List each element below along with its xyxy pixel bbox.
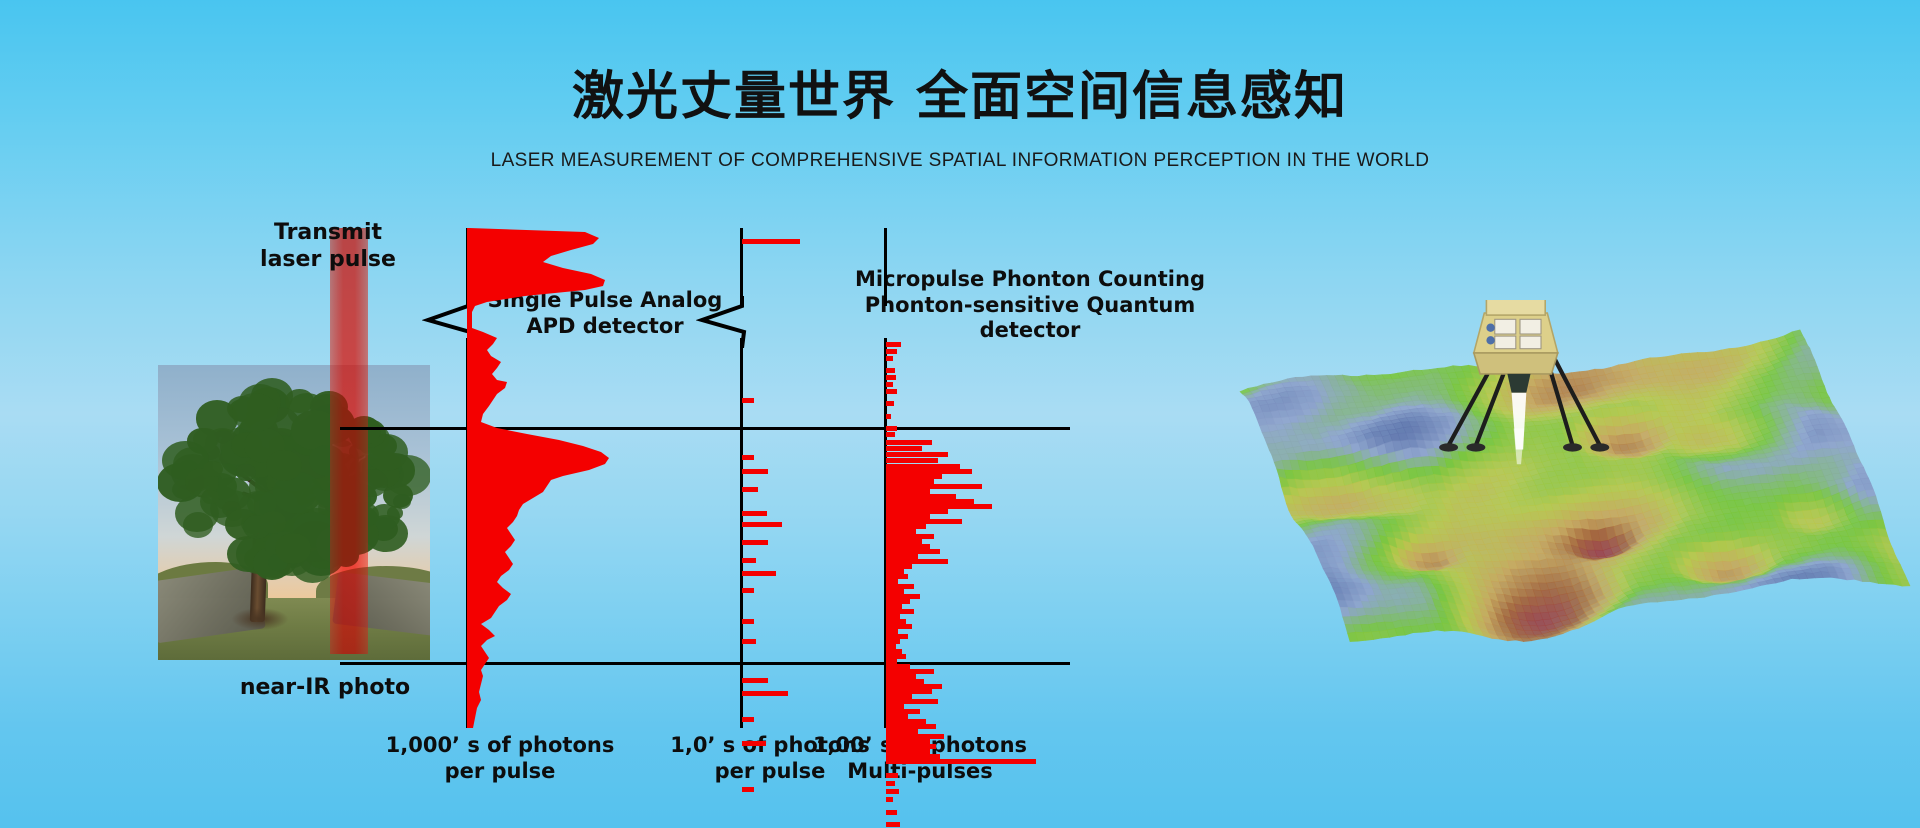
photon-spike — [886, 401, 894, 406]
photon-spike — [886, 822, 900, 827]
photon-spike — [886, 781, 895, 786]
photon-spike — [886, 382, 893, 387]
page-title: 激光丈量世界 全面空间信息感知 — [0, 54, 1920, 129]
photon-spike — [886, 432, 895, 437]
caption-1000s-photons: 1,000’ s of photons per pulse — [350, 733, 650, 784]
photon-spike — [886, 446, 922, 451]
poster-stage: 激光丈量世界 全面空间信息感知 LASER MEASUREMENT OF COM… — [0, 0, 1920, 828]
photon-spike — [742, 511, 767, 516]
photon-spike — [742, 455, 754, 460]
photon-spike — [742, 239, 800, 244]
photon-spike — [742, 639, 756, 644]
foliage-blob — [387, 506, 403, 520]
transmit-pulse-label: Transmit laser pulse — [228, 220, 428, 274]
waveform-single-pulse-analog-apd — [467, 228, 621, 732]
photon-spike — [742, 787, 754, 792]
foliage-blob — [236, 464, 256, 481]
photon-spike — [742, 571, 776, 576]
photon-spike — [742, 741, 766, 746]
photon-spike — [742, 522, 782, 527]
tree-root — [232, 608, 288, 630]
photon-spike — [886, 440, 932, 445]
photon-spike — [886, 810, 897, 815]
photon-spike — [886, 789, 899, 794]
photon-spike — [742, 678, 768, 683]
photon-spike — [742, 619, 754, 624]
photon-spike — [886, 458, 938, 463]
foliage-blob — [203, 461, 223, 478]
foliage-blob — [260, 511, 286, 533]
photon-spike — [886, 414, 891, 419]
photon-spike — [886, 389, 897, 394]
photon-spike — [742, 588, 754, 593]
photon-spike — [886, 375, 896, 380]
ground-reference-line — [340, 662, 1070, 665]
foliage-blob — [266, 450, 302, 480]
plot-axis-lower-low-photon-count — [740, 338, 743, 728]
photon-spike — [886, 797, 893, 802]
photon-spike — [886, 452, 948, 457]
axis-break-icon — [696, 296, 758, 348]
foliage-blob — [232, 393, 278, 432]
foliage-blob — [275, 533, 311, 564]
photon-spike — [886, 759, 1036, 764]
photon-spike — [886, 773, 898, 778]
canopy-reference-line — [340, 427, 1070, 430]
photon-spike — [742, 717, 754, 722]
near-ir-photo-label: near-IR photo — [200, 675, 450, 702]
photon-spike — [886, 426, 897, 431]
quantum-detector-label: Micropulse Phonton Counting Phonton-sens… — [820, 267, 1240, 344]
photon-spike — [886, 368, 895, 373]
page-subtitle: LASER MEASUREMENT OF COMPREHENSIVE SPATI… — [0, 150, 1920, 172]
photon-spike — [742, 558, 756, 563]
photon-spike — [886, 342, 901, 347]
photon-spike — [742, 540, 768, 545]
near-ir-photo — [158, 365, 430, 660]
photon-spike — [886, 356, 893, 361]
photon-spike — [742, 487, 758, 492]
tree-crown — [176, 385, 414, 575]
photon-spike — [742, 469, 768, 474]
photon-spike — [886, 349, 897, 354]
plot-axis-micropulse-photon-counting — [884, 228, 887, 306]
photon-spike — [742, 691, 788, 696]
lunar-terrain-3d — [1180, 300, 1920, 770]
laser-beam — [330, 228, 368, 654]
photon-spike — [742, 398, 754, 403]
